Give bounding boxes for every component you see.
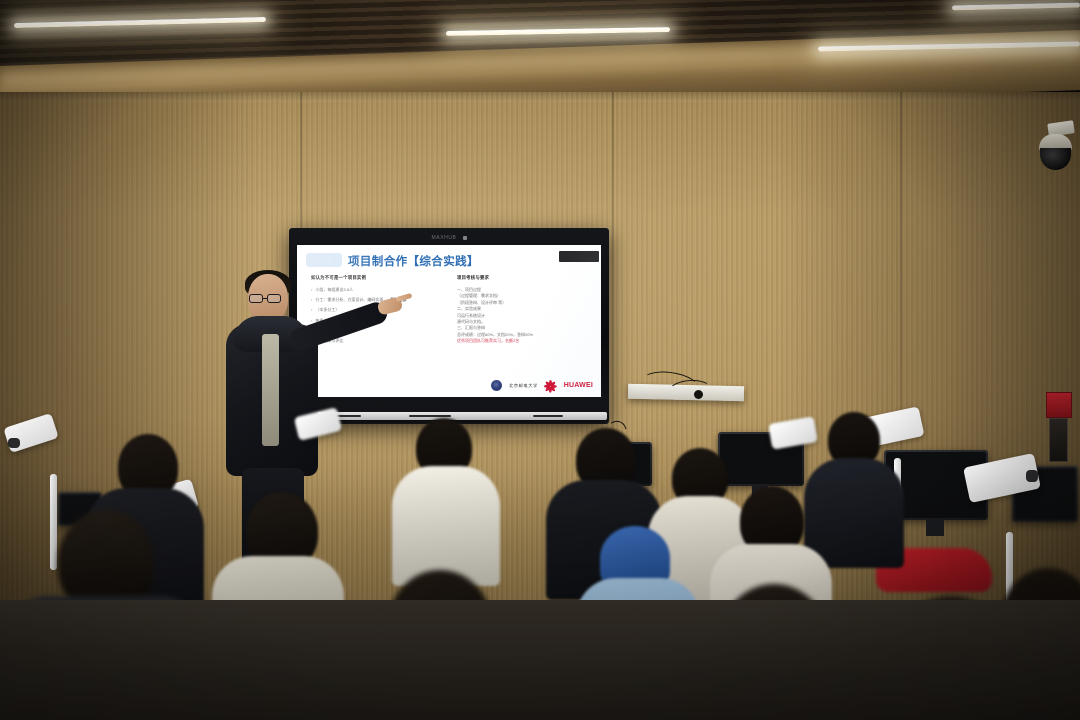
floor bbox=[0, 600, 1080, 720]
slide-logo-row: 北京邮电大学 HUAWEI bbox=[491, 380, 593, 391]
huawei-flower-icon bbox=[545, 380, 557, 391]
camera-lens-icon bbox=[1026, 470, 1038, 482]
camera-arm-pole bbox=[50, 474, 57, 570]
camera-lens-icon bbox=[8, 438, 20, 448]
student-body bbox=[804, 458, 904, 568]
university-name: 北京邮电大学 bbox=[509, 383, 538, 389]
brand-text: MAXHUB bbox=[432, 235, 457, 241]
slide-right-column: 项目考核与要求 一、项目过程（过程管理：需求文档）（阶段答辩、设计评审 等）二、… bbox=[457, 275, 591, 348]
right-column-heading: 项目考核与要求 bbox=[457, 275, 591, 281]
eyeglasses-left-icon bbox=[249, 294, 263, 303]
slide-annotation-tab[interactable] bbox=[559, 251, 599, 262]
lecture-hall-scene: MAXHUB 项目制合作【综合实践】 如认为不可是一个项目实例 •小组，每组建议… bbox=[0, 0, 1080, 720]
student-body bbox=[392, 466, 500, 586]
presenter-pointing-arm bbox=[286, 299, 390, 353]
huawei-wordmark: HUAWEI bbox=[564, 382, 593, 389]
display-brand-label: MAXHUB bbox=[289, 232, 609, 244]
university-seal-icon bbox=[491, 380, 502, 391]
slide-title: 项目制合作【综合实践】 bbox=[348, 253, 479, 269]
slide-line-highlight: 优秀项目团队可推荐实习，名额2名 bbox=[457, 338, 591, 344]
power-indicator-icon bbox=[463, 236, 467, 240]
desk-camera-arm bbox=[296, 412, 356, 472]
eyeglasses-bridge-icon bbox=[263, 298, 268, 299]
slide-accent-block bbox=[306, 253, 342, 267]
camera-arm-head bbox=[294, 407, 342, 441]
eyeglasses-right-icon bbox=[267, 294, 281, 303]
right-column-lines: 一、项目过程（过程管理：需求文档）（阶段答辩、设计评审 等）二、实验成果可运行系… bbox=[457, 287, 591, 345]
camera-arm-head bbox=[768, 416, 818, 450]
ptz-camera-icon bbox=[1038, 122, 1074, 176]
ptz-dome-glass bbox=[1040, 148, 1071, 170]
